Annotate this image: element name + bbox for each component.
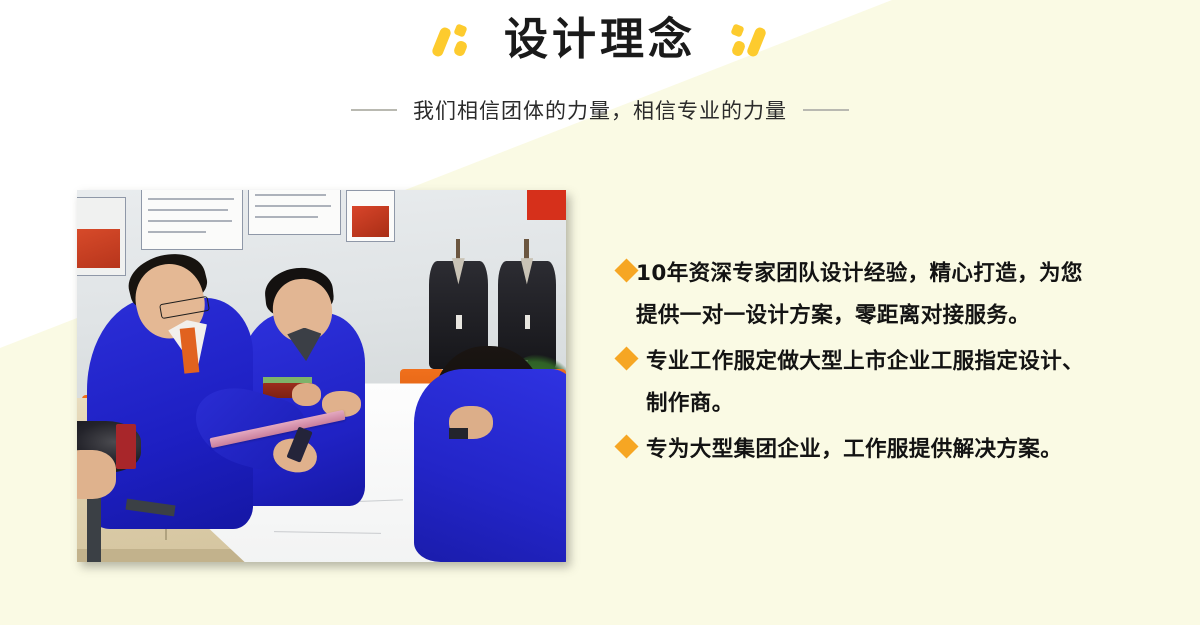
designer-middle-hand xyxy=(292,383,321,405)
list-item: 专为大型集团企业，工作服提供解决方案。 xyxy=(618,429,1178,471)
list-item-line: 专为大型集团企业，工作服提供解决方案。 xyxy=(641,429,1062,471)
team-design-photo xyxy=(77,190,566,562)
subtitle-row: 我们相信团体的力量，相信专业的力量 xyxy=(0,95,1200,125)
diamond-bullet-icon xyxy=(614,346,638,370)
wall-poster xyxy=(141,190,244,250)
subtitle-rule-right xyxy=(803,109,849,111)
list-item: 专业工作服定做大型上市企业工服指定设计、 制作商。 xyxy=(618,341,1178,425)
subtitle-text: 我们相信团体的力量，相信专业的力量 xyxy=(413,95,787,125)
title-row: 设计理念 xyxy=(0,18,1200,62)
employee-right xyxy=(414,369,566,562)
camera-lens-ring xyxy=(116,424,136,469)
page-title: 设计理念 xyxy=(504,18,696,62)
yellow-double-slash-icon xyxy=(430,19,474,61)
wall-poster xyxy=(77,197,126,275)
photographer-hand xyxy=(77,450,116,498)
subtitle-rule-left xyxy=(351,109,397,111)
yellow-double-slash-icon xyxy=(726,19,770,61)
diamond-bullet-icon xyxy=(614,258,638,282)
list-item-line: 提供一对一设计方案，零距离对接服务。 xyxy=(636,295,1083,337)
feature-list: 10年资深专家团队设计经验，精心打造，为您 提供一对一设计方案，零距离对接服务。… xyxy=(618,253,1178,475)
list-item-line: 10年资深专家团队设计经验，精心打造，为您 xyxy=(636,253,1083,295)
list-item: 10年资深专家团队设计经验，精心打造，为您 提供一对一设计方案，零距离对接服务。 xyxy=(618,253,1178,337)
wall-poster xyxy=(248,190,341,235)
wall-poster xyxy=(527,190,566,220)
header: 设计理念 我们相信团体的力量，相信专业的力量 xyxy=(0,0,1200,150)
page-canvas: 设计理念 我们相信团体的力量，相信专业的力量 xyxy=(0,0,1200,625)
list-item-line: 制作商。 xyxy=(641,383,1084,425)
list-item-line: 专业工作服定做大型上市企业工服指定设计、 xyxy=(641,341,1084,383)
employee-right-badge xyxy=(449,428,469,439)
photo-illustration xyxy=(77,190,566,562)
diamond-bullet-icon xyxy=(614,434,638,458)
wall-poster xyxy=(346,190,395,242)
